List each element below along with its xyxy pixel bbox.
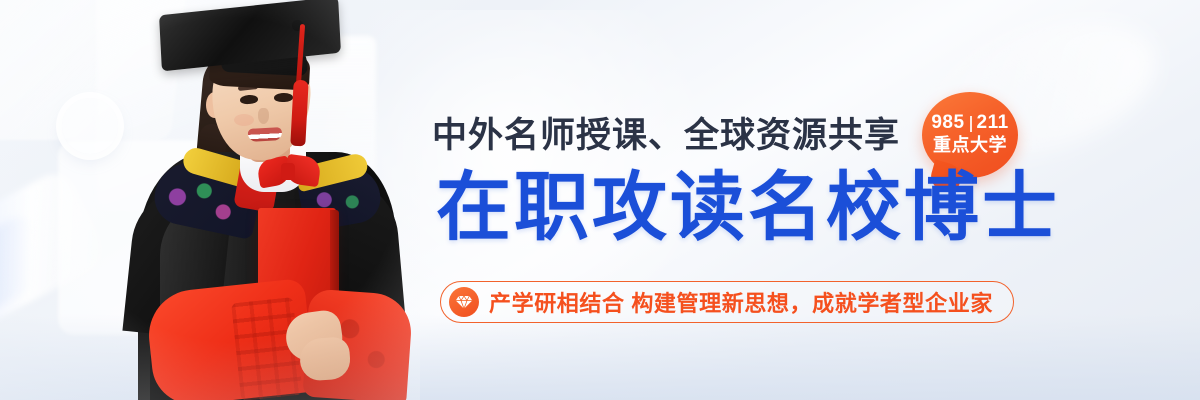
bow-tie-knot	[281, 163, 295, 180]
diamond-icon	[449, 287, 479, 317]
cheek-blush	[234, 114, 254, 126]
badge-line-2: 重点大学	[933, 134, 1007, 157]
slogan-text: 产学研相结合 构建管理新思想，成就学者型企业家	[489, 286, 993, 318]
nose	[258, 108, 269, 124]
headline-text: 在职攻读名校博士	[436, 168, 1060, 248]
badge-line-1: 985 211	[931, 113, 1008, 134]
badge-separator	[970, 116, 972, 132]
banner-copy: 中外名师授课、全球资源共享 985 211 重点大学 在职攻读名校博士 产学研相…	[432, 0, 1032, 400]
tassel	[290, 80, 308, 147]
mortarboard-board	[159, 0, 341, 71]
mouth-smile	[248, 127, 283, 142]
slogan-pill: 产学研相结合 构建管理新思想，成就学者型企业家	[440, 281, 1014, 323]
tagline-text: 中外名师授课、全球资源共享	[432, 118, 900, 153]
badge-985-label: 985	[931, 113, 964, 134]
education-promo-banner: 中外名师授课、全球资源共享 985 211 重点大学 在职攻读名校博士 产学研相…	[0, 0, 1200, 400]
badge-211-label: 211	[977, 113, 1009, 134]
graduate-photo	[0, 0, 420, 400]
